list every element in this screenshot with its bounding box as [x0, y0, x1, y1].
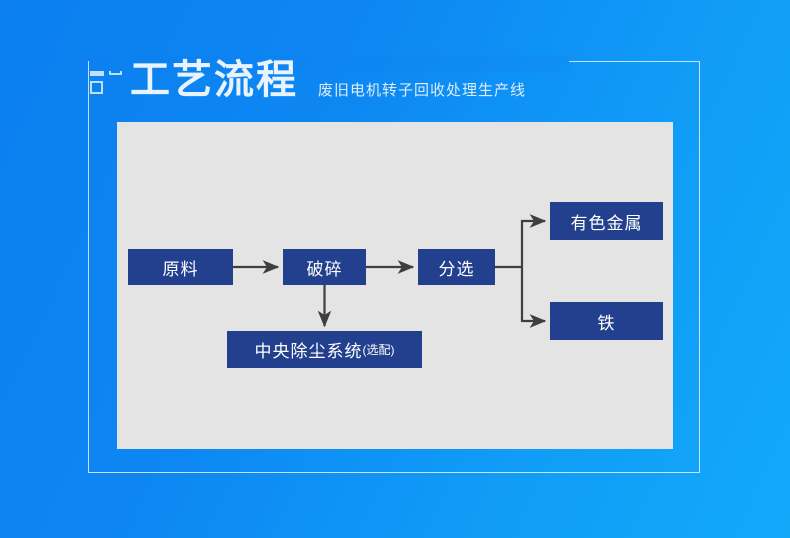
dust-label-main: 中央除尘系统 — [255, 337, 363, 362]
flow-node-central-dust-system[interactable]: 中央除尘系统(选配) — [227, 331, 422, 368]
dust-label-optional: (选配) — [363, 341, 395, 358]
flow-node-crush[interactable]: 破碎 — [283, 249, 366, 285]
square-outline-bottom-icon — [90, 81, 103, 94]
diagram-panel — [117, 122, 673, 449]
page-title: 工艺流程 — [130, 55, 298, 105]
flow-node-sort[interactable]: 分选 — [418, 249, 495, 285]
flow-node-nonferrous-metal[interactable]: 有色金属 — [550, 202, 663, 240]
slide-canvas: 工艺流程 废旧电机转子回收处理生产线 原料 破碎 分选 有色金属 铁 中央除尘系… — [0, 0, 790, 538]
page-subtitle: 废旧电机转子回收处理生产线 — [318, 80, 526, 102]
flow-node-raw[interactable]: 原料 — [128, 249, 233, 285]
flow-node-iron[interactable]: 铁 — [550, 302, 663, 340]
